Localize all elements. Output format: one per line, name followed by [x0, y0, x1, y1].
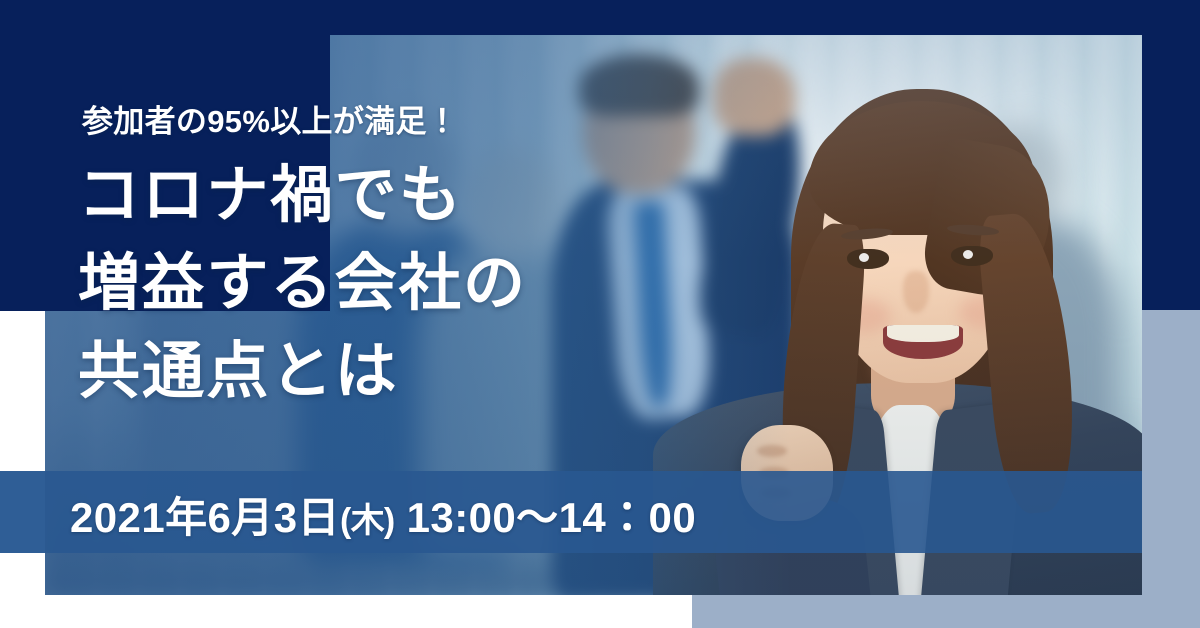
event-datetime: 2021年6月3日(木) 13:00〜14：00 — [70, 484, 696, 545]
headline-line-2: 増益する会社の — [78, 240, 527, 328]
headline: コロナ禍でも 増益する会社の 共通点とは — [78, 152, 527, 416]
kicker-text: 参加者の95%以上が満足！ — [82, 96, 458, 141]
text-layer: 参加者の95%以上が満足！ コロナ禍でも 増益する会社の 共通点とは 2021年… — [0, 0, 1200, 628]
event-weekday: (木) — [340, 502, 395, 540]
event-date: 2021年6月3日 — [70, 494, 340, 541]
headline-line-3: 共通点とは — [78, 328, 527, 416]
webinar-banner: 参加者の95%以上が満足！ コロナ禍でも 増益する会社の 共通点とは 2021年… — [0, 0, 1200, 628]
event-time: 13:00〜14：00 — [395, 494, 697, 541]
headline-line-1: コロナ禍でも — [78, 152, 527, 240]
